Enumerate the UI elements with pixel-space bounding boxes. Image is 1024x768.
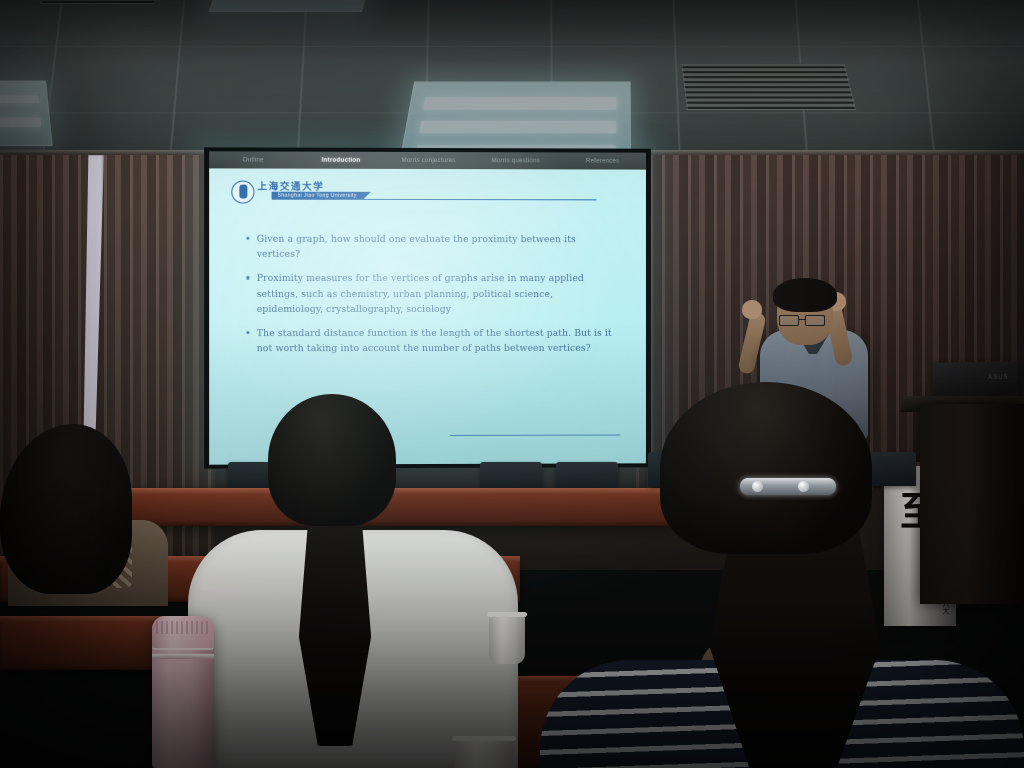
projected-slide: Outline Introduction Morris conjectures … [209, 151, 646, 464]
thermos-cap [152, 616, 214, 650]
thermos-ring [152, 654, 214, 659]
slide-footer-divider [450, 435, 620, 436]
nav-tab-introduction[interactable]: Introduction [297, 157, 385, 164]
projection-screen-frame: Outline Introduction Morris conjectures … [204, 147, 651, 468]
presenter-hair [773, 278, 837, 312]
laptop-brand-label: ASUS [988, 375, 1008, 381]
podium [920, 404, 1024, 604]
bullet-text: The standard distance function is the le… [257, 326, 619, 357]
presenter-glasses-icon [778, 315, 826, 324]
list-item: Proximity measures for the vertices of g… [246, 271, 618, 317]
bullet-text: Given a graph, how should one evaluate t… [257, 232, 619, 263]
slide-nav-bar: Outline Introduction Morris conjectures … [209, 151, 646, 169]
presenter-hand-left [742, 300, 762, 319]
university-name-chinese: 上海交通大学 [257, 179, 324, 193]
nav-tab-morris-conjectures[interactable]: Morris conjectures [385, 157, 472, 164]
nav-tab-morris-questions[interactable]: Morris questions [472, 157, 559, 164]
paper-cup [489, 612, 525, 664]
header-divider [336, 199, 597, 201]
bullet-dot-icon [246, 237, 249, 240]
bullet-dot-icon [246, 276, 249, 279]
university-seal-icon [231, 181, 254, 204]
slide-bullet-list: Given a graph, how should one evaluate t… [246, 232, 618, 366]
slide-header: 上海交通大学 Shanghai Jiao Tong University [231, 178, 622, 211]
list-item: Given a graph, how should one evaluate t… [246, 232, 618, 263]
thermos-flask [152, 616, 214, 768]
bullet-text: Proximity measures for the vertices of g… [257, 271, 619, 317]
audience-right-hair [660, 382, 872, 554]
paper-cup [454, 736, 514, 768]
nav-tab-outline[interactable]: Outline [209, 156, 297, 163]
hair-clip [740, 478, 836, 495]
list-item: The standard distance function is the le… [246, 326, 618, 357]
bullet-dot-icon [246, 331, 249, 334]
audience-center-hair [268, 394, 396, 526]
lecture-hall-photo: Outline Introduction Morris conjectures … [0, 0, 1024, 768]
nav-tab-references[interactable]: References [559, 157, 646, 164]
